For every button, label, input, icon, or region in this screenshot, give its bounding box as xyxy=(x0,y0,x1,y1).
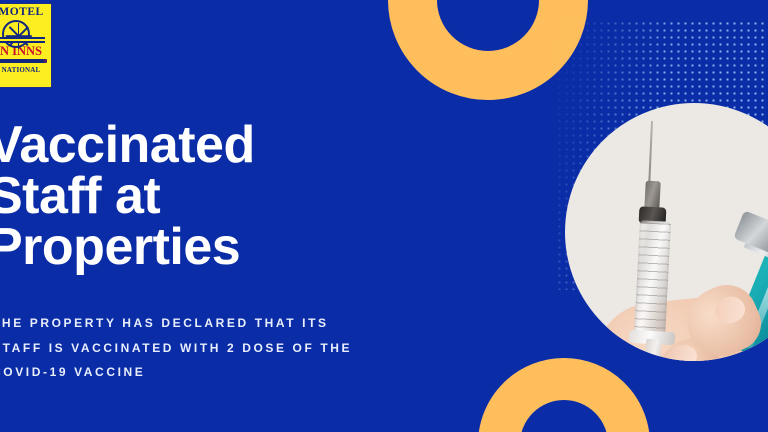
syringe-graduation-marks xyxy=(634,222,671,335)
body-line-1: THE PROPERTY HAS DECLARED THAT ITS xyxy=(0,311,492,336)
orange-ring-top-decoration xyxy=(388,0,588,100)
headline-line-2: Staff at xyxy=(0,171,458,222)
syringe-plunger xyxy=(644,339,661,361)
brand-logo[interactable]: MOTEL N INNS ® NATIONAL xyxy=(0,3,52,88)
vaccine-photo-circle xyxy=(565,103,768,361)
wagon-wheel-icon xyxy=(0,20,45,44)
body-line-3: COVID-19 VACCINE xyxy=(0,360,492,385)
headline-line-1: Vaccinated xyxy=(0,120,458,171)
logo-divider-bar xyxy=(0,59,47,63)
body-description: THE PROPERTY HAS DECLARED THAT ITS STAFF… xyxy=(0,311,492,385)
bridge-graphic xyxy=(0,37,45,43)
logo-top-text: MOTEL xyxy=(0,7,44,19)
body-line-2: STAFF IS VACCINATED WITH 2 DOSE OF THE xyxy=(0,336,492,361)
headline-line-3: Properties xyxy=(0,222,458,273)
syringe-needle xyxy=(648,121,653,183)
registered-trademark-icon: ® xyxy=(43,59,47,65)
orange-ring-bottom-decoration xyxy=(478,358,650,432)
wheel-rim xyxy=(2,20,30,48)
poster-canvas: MOTEL N INNS ® NATIONAL Vaccinated Staff… xyxy=(0,0,768,432)
page-title: Vaccinated Staff at Properties xyxy=(0,120,458,273)
logo-bottom-text: NATIONAL xyxy=(2,66,41,74)
